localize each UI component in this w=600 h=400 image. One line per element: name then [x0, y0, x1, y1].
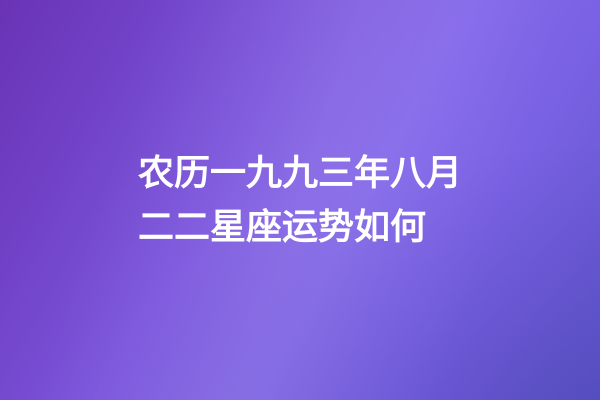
page-title: 农历一九九三年八月 二二星座运势如何: [138, 0, 462, 400]
title-line-2: 二二星座运势如何: [138, 200, 462, 254]
article-title-banner: 农历一九九三年八月 二二星座运势如何: [0, 0, 600, 400]
title-line-1: 农历一九九三年八月: [138, 146, 462, 200]
